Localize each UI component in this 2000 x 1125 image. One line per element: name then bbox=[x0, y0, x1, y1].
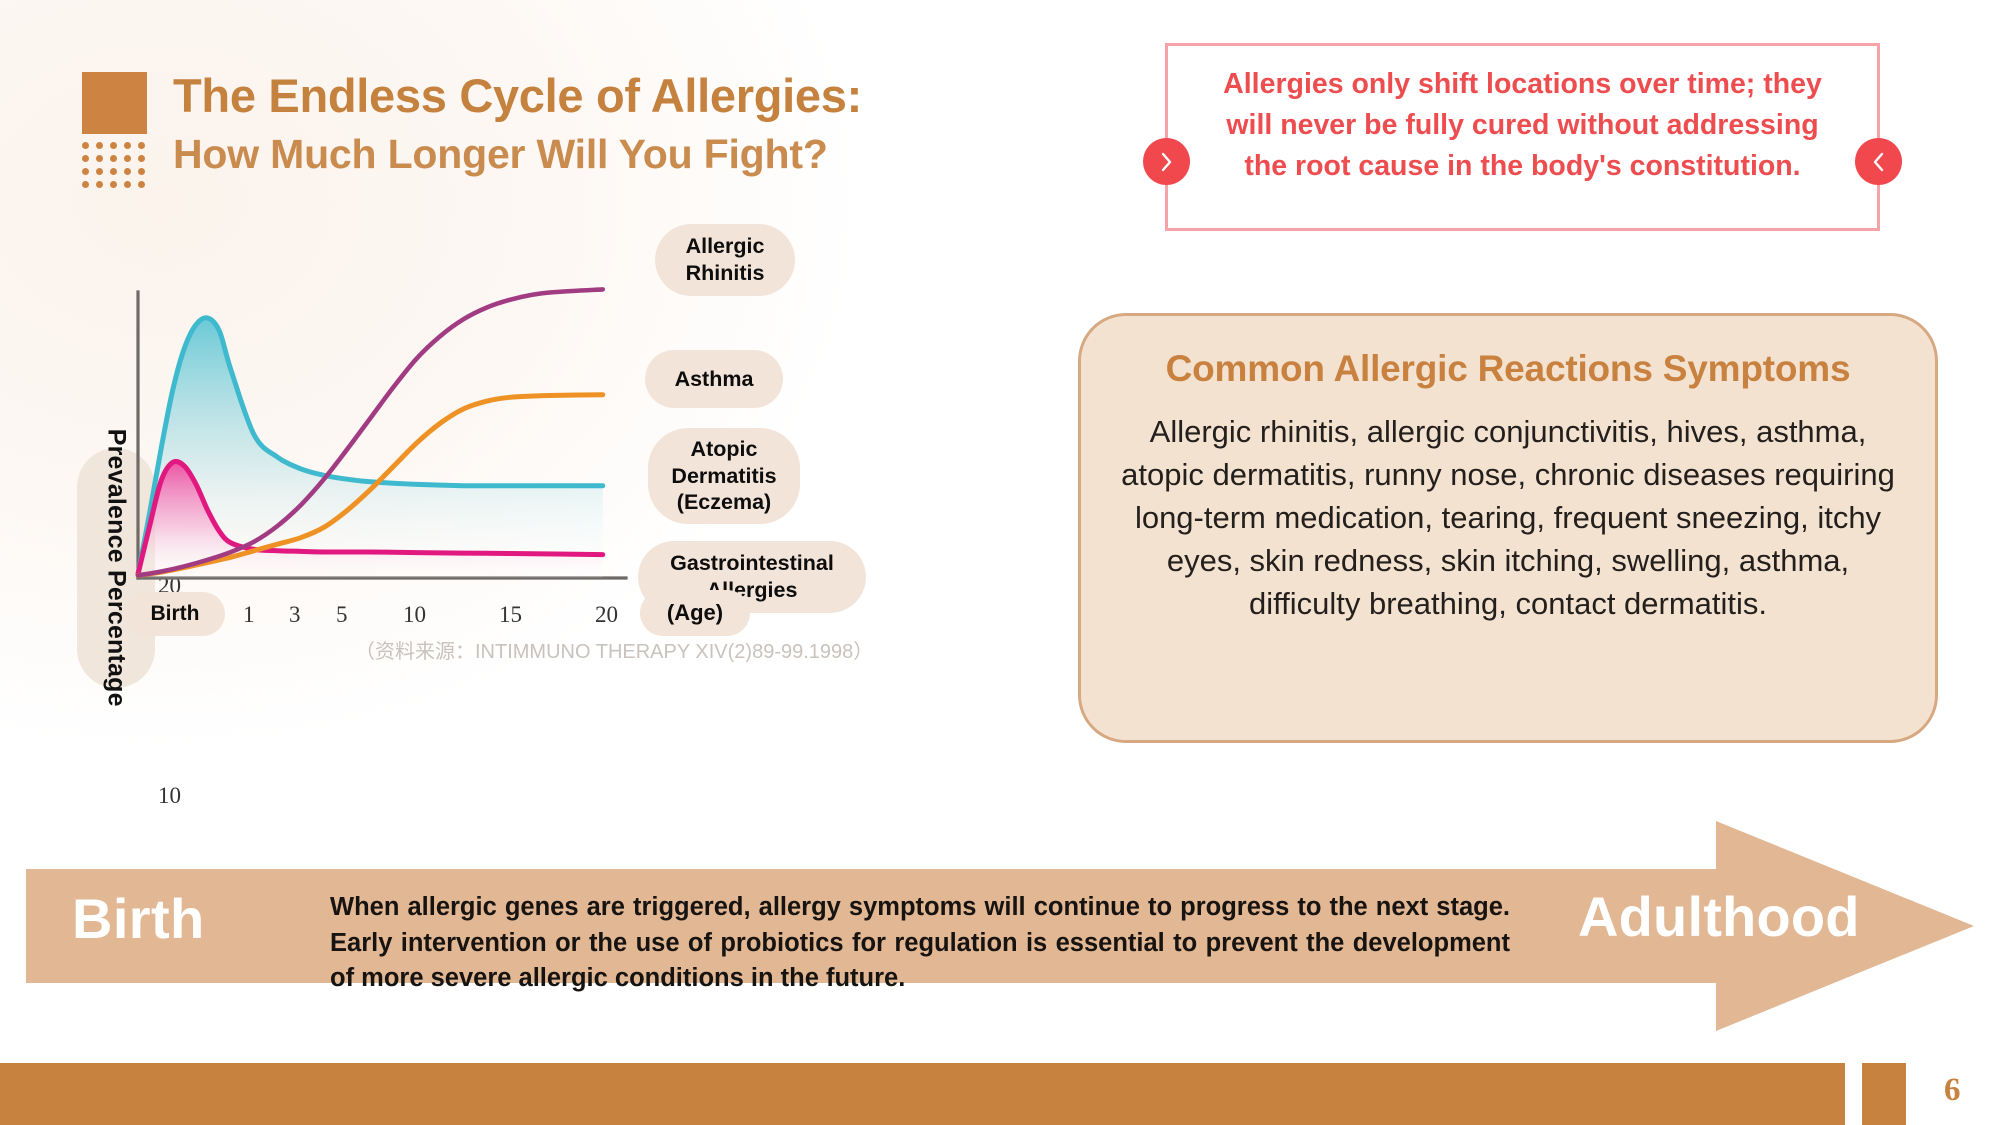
chevron-right-icon[interactable] bbox=[1143, 138, 1190, 185]
legend-label-atopic-dermatitis: Atopic Dermatitis (Eczema) bbox=[648, 428, 800, 524]
y-tick-10: 10 bbox=[158, 783, 1080, 809]
x-axis-label: (Age) bbox=[640, 590, 750, 636]
page-number: 6 bbox=[1944, 1072, 1961, 1109]
dot-grid-decoration-icon bbox=[82, 142, 152, 194]
symptom-card-title: Common Allergic Reactions Symptoms bbox=[1081, 348, 1935, 390]
x-tick-5: 5 bbox=[336, 602, 348, 628]
callout-banner-text: Allergies only shift locations over time… bbox=[1212, 64, 1833, 187]
footer-accent-block bbox=[1862, 1063, 1906, 1125]
timeline-body-text: When allergic genes are triggered, aller… bbox=[330, 890, 1510, 997]
prevalence-chart: Prevalence Percentage 20 10 0 bbox=[60, 280, 1080, 860]
title-secondary: How Much Longer Will You Fight? bbox=[173, 130, 862, 179]
chart-source-note: （资料来源：INTIMMUNO THERAPY XIV(2)89-99.1998… bbox=[355, 635, 873, 664]
chevron-left-icon[interactable] bbox=[1855, 138, 1902, 185]
x-tick-3: 3 bbox=[289, 602, 301, 628]
slide-canvas: The Endless Cycle of Allergies: How Much… bbox=[0, 0, 2000, 1125]
page-title: The Endless Cycle of Allergies: How Much… bbox=[173, 68, 862, 180]
symptom-card-body: Allergic rhinitis, allergic conjunctivit… bbox=[1109, 410, 1907, 625]
x-tick-birth: Birth bbox=[125, 592, 225, 636]
x-tick-20: 20 bbox=[595, 602, 618, 628]
legend-label-allergic-rhinitis: Allergic Rhinitis bbox=[655, 224, 795, 296]
timeline-start-label: Birth bbox=[72, 886, 205, 951]
x-tick-10: 10 bbox=[403, 602, 426, 628]
footer-bar bbox=[0, 1063, 1845, 1125]
title-primary: The Endless Cycle of Allergies: bbox=[173, 68, 862, 123]
callout-banner: Allergies only shift locations over time… bbox=[1165, 43, 1880, 231]
x-tick-1: 1 bbox=[243, 602, 255, 628]
x-tick-15: 15 bbox=[499, 602, 522, 628]
solid-square-decoration-icon bbox=[82, 72, 147, 134]
timeline-end-label: Adulthood bbox=[1578, 884, 1860, 949]
symptom-card: Common Allergic Reactions Symptoms Aller… bbox=[1078, 313, 1938, 743]
slide-header: The Endless Cycle of Allergies: How Much… bbox=[0, 0, 1100, 200]
legend-label-asthma: Asthma bbox=[645, 350, 783, 408]
